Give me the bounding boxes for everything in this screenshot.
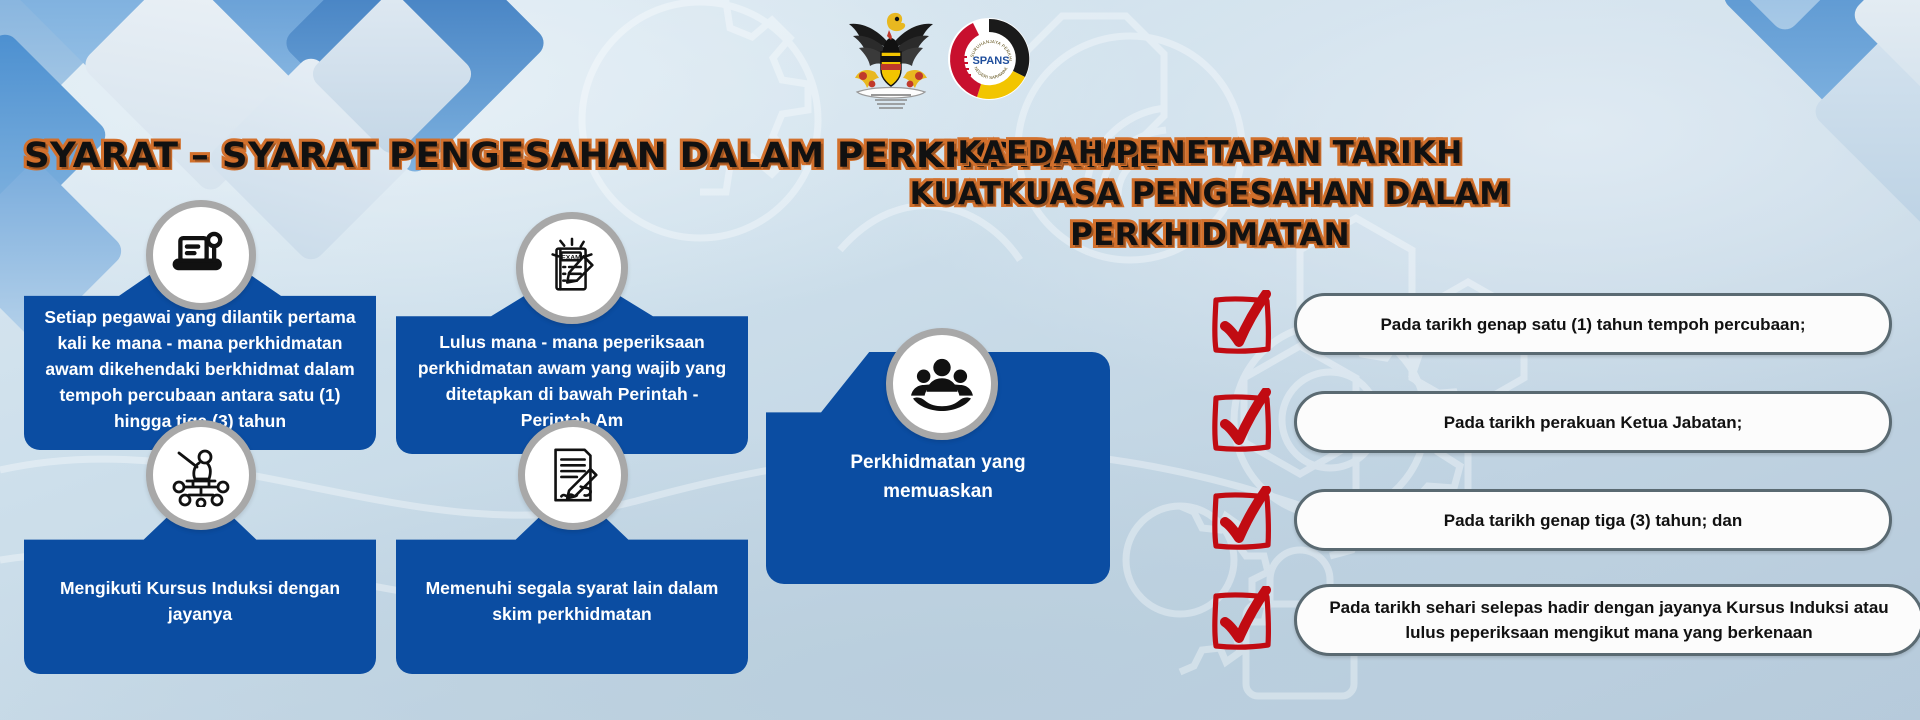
logo-group: SURUHANJAYA PERKHIDMATAN AWAM NEGERI SAR… [845, 6, 1031, 112]
page-title-right: KAEDAH PENETAPAN TARIKH KUATKUASA PENGES… [890, 133, 1530, 256]
spans-logo: SURUHANJAYA PERKHIDMATAN AWAM NEGERI SAR… [947, 17, 1031, 101]
check-item-text: Pada tarikh sehari selepas hadir dengan … [1315, 595, 1903, 645]
stamp-certificate-icon [171, 225, 231, 285]
check-item-text: Pada tarikh genap satu (1) tahun tempoh … [1380, 312, 1805, 337]
card-text: Perkhidmatan yang memuaskan [828, 434, 1048, 506]
exam-checklist-icon: EXAM [541, 237, 603, 299]
signing-document-icon [542, 444, 604, 506]
signing-document-icon-bubble [518, 420, 628, 530]
page-title-right-line-3: PERKHIDMATAN [890, 215, 1530, 256]
check-item-pill[interactable]: Pada tarikh sehari selepas hadir dengan … [1294, 584, 1920, 656]
training-presentation-icon [169, 443, 233, 507]
card-text: Mengikuti Kursus Induksi dengan jayanya [38, 533, 362, 627]
people-group-icon [911, 356, 973, 412]
people-group-icon-bubble [886, 328, 998, 440]
check-item-text: Pada tarikh perakuan Ketua Jabatan; [1444, 410, 1743, 435]
checkbox-checked-icon[interactable] [1208, 290, 1276, 358]
training-presentation-icon-bubble [146, 420, 256, 530]
infographic-canvas: SURUHANJAYA PERKHIDMATAN AWAM NEGERI SAR… [0, 0, 1920, 720]
page-title-right-line-1: KAEDAH PENETAPAN TARIKH [890, 133, 1530, 174]
check-item-pill[interactable]: Pada tarikh perakuan Ketua Jabatan; [1294, 391, 1892, 453]
card-text: Memenuhi segala syarat lain dalam skim p… [410, 533, 734, 627]
check-item-pill[interactable]: Pada tarikh genap satu (1) tahun tempoh … [1294, 293, 1892, 355]
checkbox-checked-icon[interactable] [1208, 388, 1276, 456]
stamp-certificate-icon-bubble [146, 200, 256, 310]
spans-wordmark: SPANS [972, 55, 1009, 67]
svg-text:EXAM: EXAM [561, 254, 581, 261]
check-item-pill[interactable]: Pada tarikh genap tiga (3) tahun; dan [1294, 489, 1892, 551]
check-item-3[interactable]: Pada tarikh genap tiga (3) tahun; dan [1208, 486, 1892, 554]
check-item-4[interactable]: Pada tarikh sehari selepas hadir dengan … [1208, 584, 1920, 656]
checkbox-checked-icon[interactable] [1208, 486, 1276, 554]
sarawak-state-crest [845, 6, 937, 112]
check-item-1[interactable]: Pada tarikh genap satu (1) tahun tempoh … [1208, 290, 1892, 358]
checkbox-checked-icon[interactable] [1208, 586, 1276, 654]
card-text: Lulus mana - mana peperiksaan perkhidmat… [410, 311, 734, 433]
check-item-text: Pada tarikh genap tiga (3) tahun; dan [1444, 508, 1742, 533]
check-item-2[interactable]: Pada tarikh perakuan Ketua Jabatan; [1208, 388, 1892, 456]
page-title-right-line-2: KUATKUASA PENGESAHAN DALAM [890, 174, 1530, 215]
exam-checklist-icon-bubble: EXAM [516, 212, 628, 324]
